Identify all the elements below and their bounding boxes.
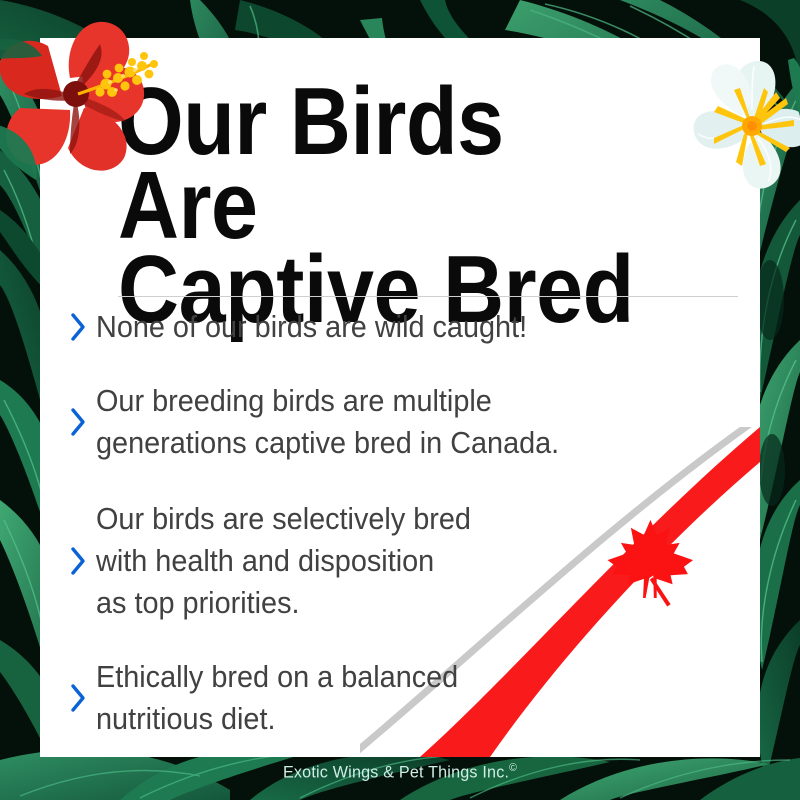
- footer-brand: Exotic Wings & Pet Things Inc.©: [20, 762, 780, 783]
- page-title: Our Birds Are Captive Bred: [118, 80, 646, 332]
- hibiscus-flower-icon: [0, 4, 166, 184]
- list-item: Our birds are selectively bred with heal…: [62, 498, 760, 624]
- chevron-right-icon: [62, 683, 96, 713]
- list-item-text: Our birds are selectively bred with heal…: [96, 498, 710, 624]
- list-item-text: Ethically bred on a balanced nutritious …: [96, 656, 710, 740]
- chevron-right-icon: [62, 407, 96, 437]
- list-item-text: None of our birds are wild caught!: [96, 306, 710, 348]
- list-item-text: Our breeding birds are multiple generati…: [96, 380, 710, 464]
- list-item: Our breeding birds are multiple generati…: [62, 380, 760, 464]
- list-item: Ethically bred on a balanced nutritious …: [62, 656, 760, 740]
- brand-name: Exotic Wings & Pet Things Inc.: [283, 763, 509, 782]
- title-divider: [118, 296, 738, 297]
- copyright-mark: ©: [509, 762, 517, 774]
- plumeria-flower-icon: [690, 58, 800, 198]
- chevron-right-icon: [62, 546, 96, 576]
- chevron-right-icon: [62, 312, 96, 342]
- poster-canvas: Our Birds Are Captive Bred None of our b…: [0, 0, 800, 800]
- list-item: None of our birds are wild caught!: [62, 306, 760, 348]
- benefits-list: None of our birds are wild caught! Our b…: [62, 306, 760, 757]
